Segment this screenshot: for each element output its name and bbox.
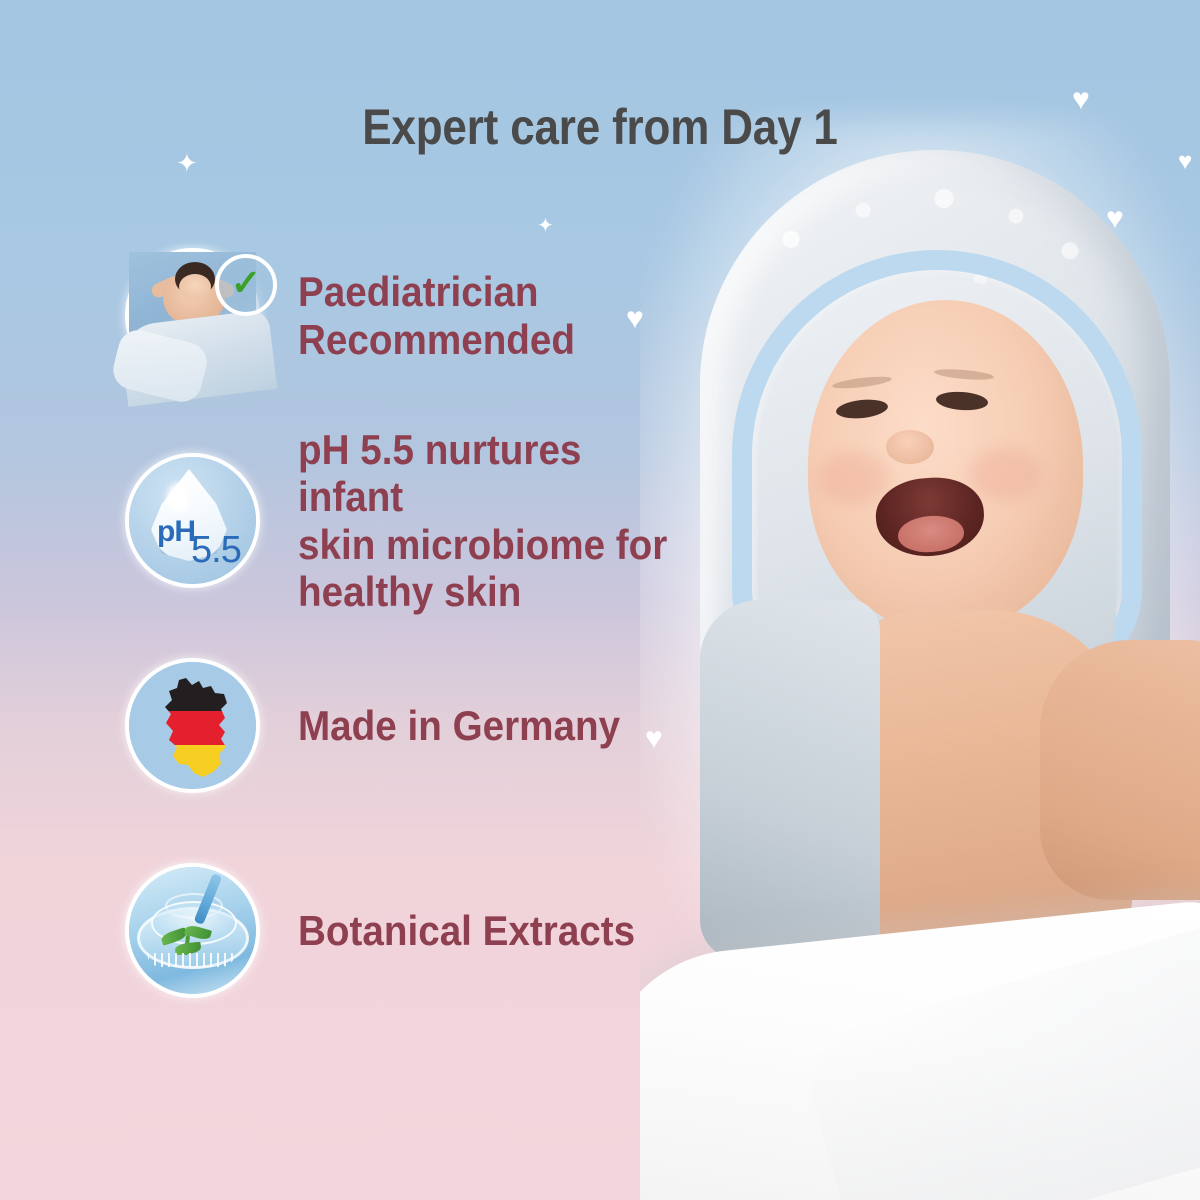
feature-label: Paediatrician Recommended <box>298 268 575 362</box>
heart-icon: ♥ <box>1178 150 1192 174</box>
newborn-face <box>179 274 211 300</box>
baby-photo <box>640 0 1200 1200</box>
water-droplet-ph-icon: pH 5.5 <box>125 453 260 588</box>
baby-cheek-right <box>970 448 1040 500</box>
feature-ph-5-5: pH 5.5 pH 5.5 nurtures infant skin micro… <box>125 453 705 588</box>
towel-drape-left <box>700 600 880 960</box>
baby-cheek-left <box>818 452 888 504</box>
sleeping-newborn-photo-icon: ✓ <box>125 248 260 383</box>
petri-dish-graduations <box>147 953 235 967</box>
check-glyph: ✓ <box>231 265 261 301</box>
poster-canvas: ♥ ♥ ♥ ♥ ♥ ✦ ✦ Expert care from Day 1 ✓ P… <box>0 0 1200 1200</box>
feature-label: Botanical Extracts <box>298 907 635 954</box>
baby-shoulder-right <box>1040 640 1200 900</box>
germany-map-shape <box>155 676 235 780</box>
feature-made-in-germany: Made in Germany <box>125 658 705 793</box>
heart-icon: ♥ <box>1106 204 1124 234</box>
feature-label: Made in Germany <box>298 702 620 749</box>
ph-label: pH <box>157 515 195 549</box>
feature-list: ✓ Paediatrician Recommended pH 5.5 pH 5.… <box>125 248 705 1068</box>
baby-nose <box>886 430 934 464</box>
feature-paediatrician-recommended: ✓ Paediatrician Recommended <box>125 248 705 383</box>
ph-value: 5.5 <box>191 529 241 572</box>
green-check-icon: ✓ <box>215 254 277 316</box>
petri-dish-sprout-icon <box>125 863 260 998</box>
page-title: Expert care from Day 1 <box>72 98 1128 156</box>
star-icon: ✦ <box>537 216 554 236</box>
droplet-highlight <box>167 483 189 513</box>
germany-map-flag-icon <box>125 658 260 793</box>
feature-label: pH 5.5 nurtures infant skin microbiome f… <box>298 426 672 614</box>
feature-botanical-extracts: Botanical Extracts <box>125 863 705 998</box>
